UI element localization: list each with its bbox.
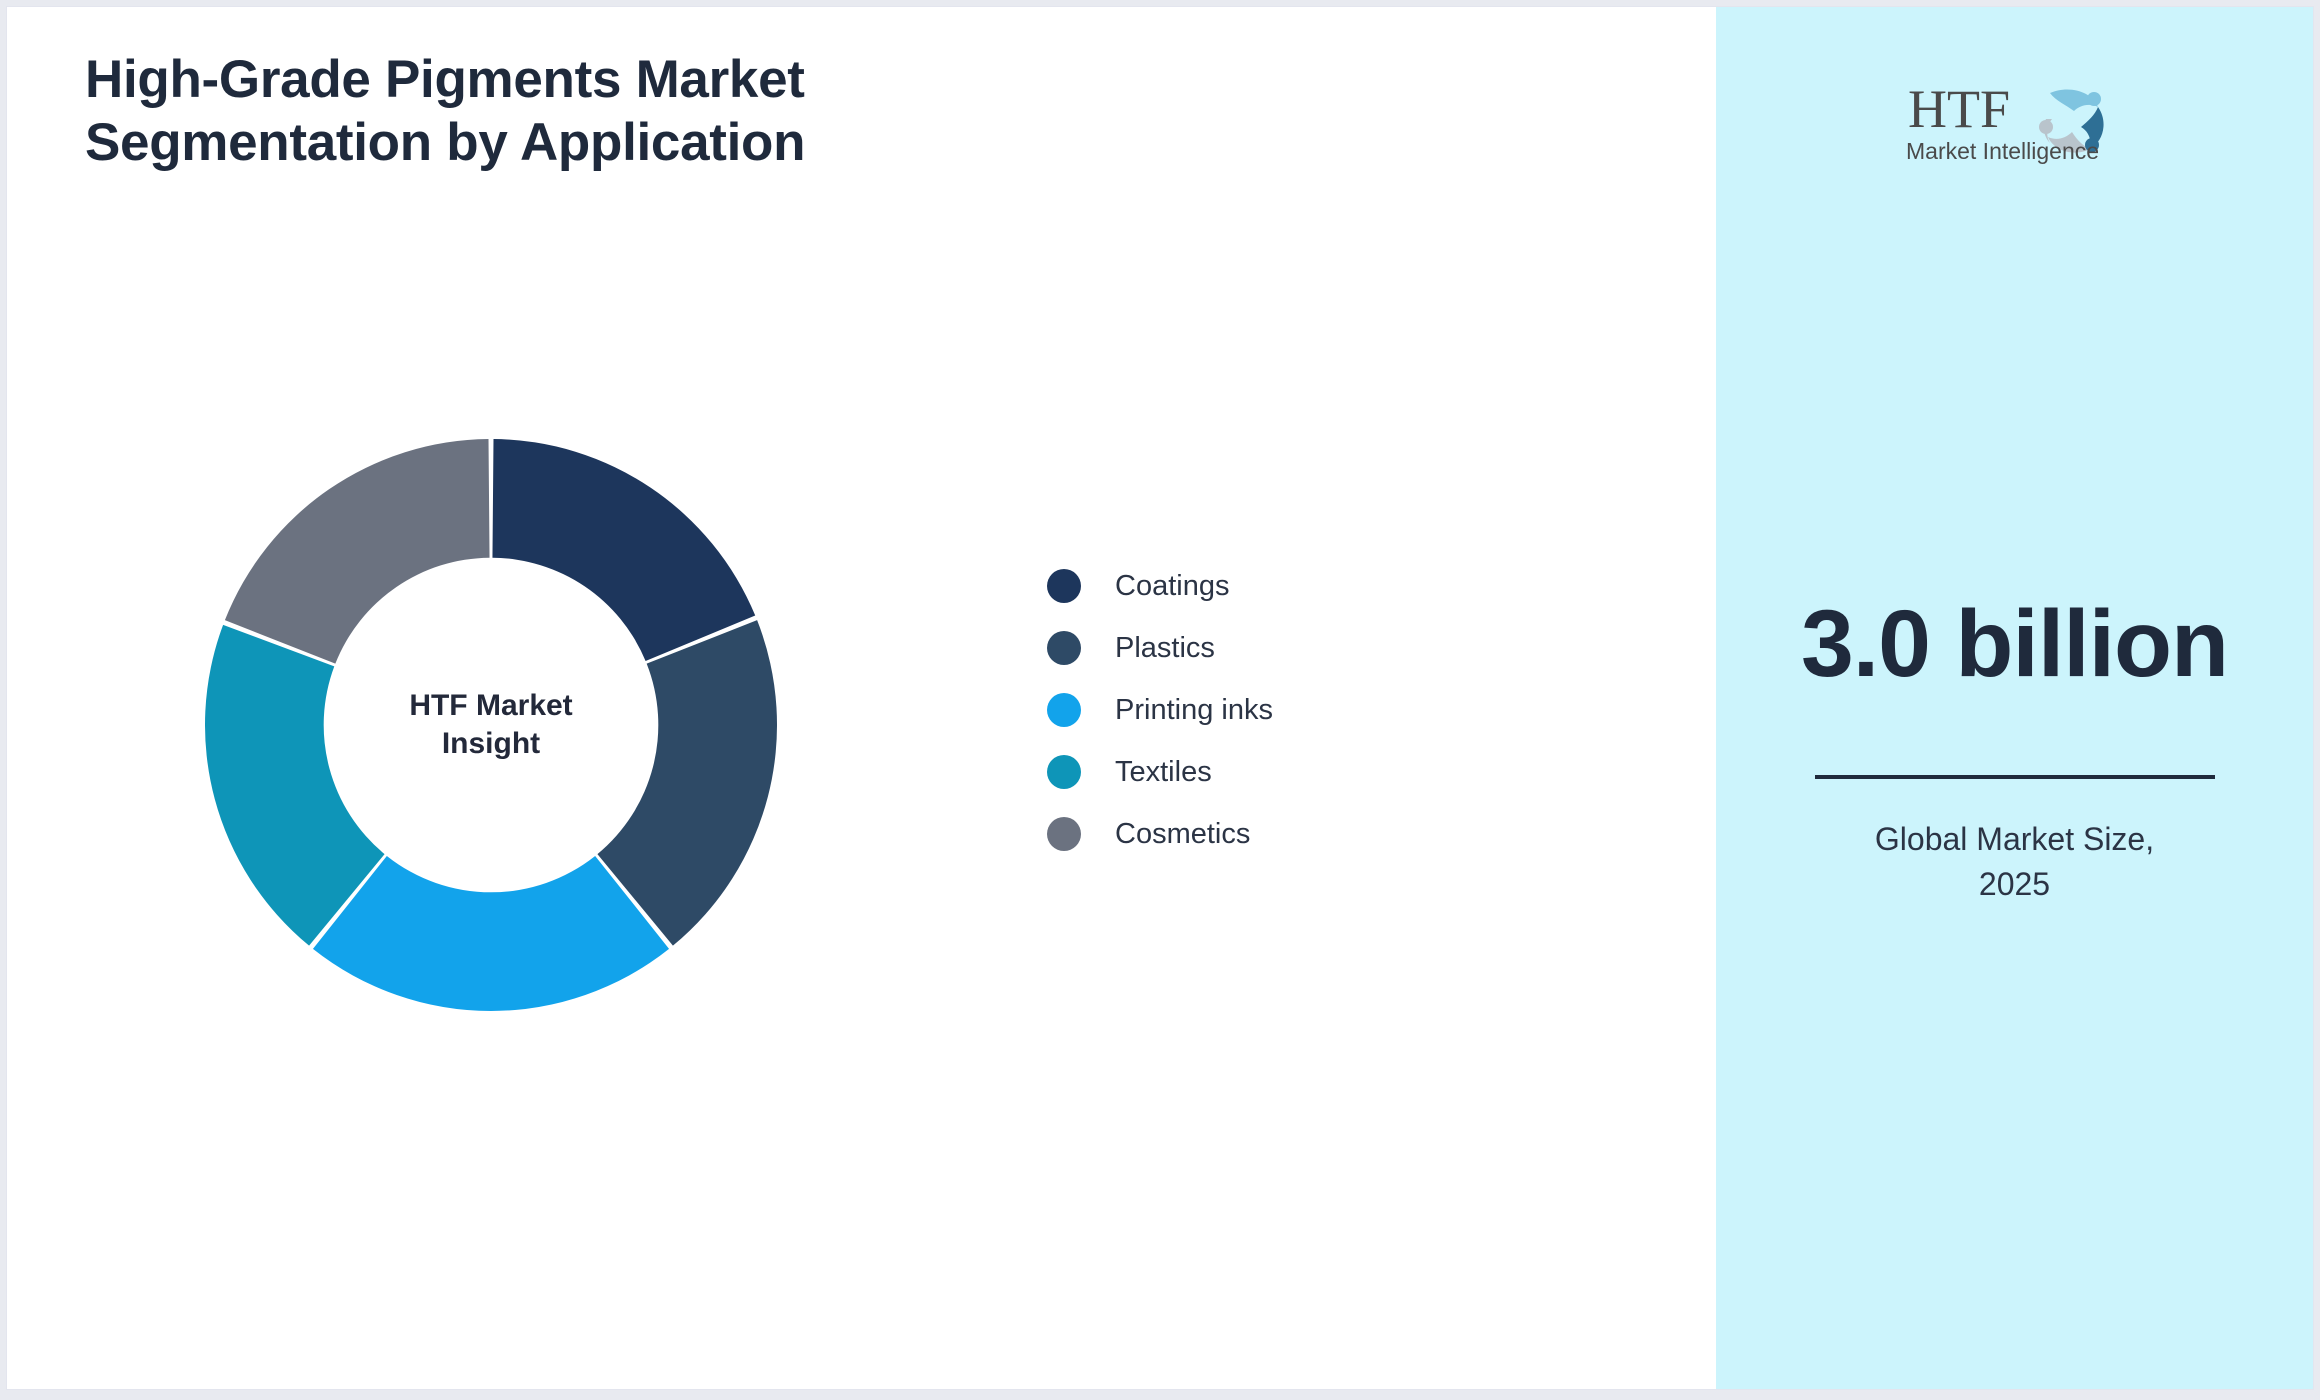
donut-chart: HTF Market Insight <box>205 439 777 1011</box>
legend-item-textiles[interactable]: Textiles <box>1047 741 1273 803</box>
logo-icon: HTF Market Intelligence <box>1900 75 2130 167</box>
donut-slice-cosmetics[interactable] <box>225 439 490 664</box>
donut-chart-svg <box>205 439 777 1011</box>
legend-item-plastics[interactable]: Plastics <box>1047 617 1273 679</box>
legend-swatch-icon <box>1047 755 1081 789</box>
donut-slice-coatings[interactable] <box>492 439 755 661</box>
page-title-line-2: Segmentation by Application <box>85 112 1085 175</box>
legend-item-coatings[interactable]: Coatings <box>1047 555 1273 617</box>
legend-item-label: Textiles <box>1115 756 1212 789</box>
legend-item-label: Plastics <box>1115 632 1215 665</box>
donut-slice-group <box>205 439 777 1011</box>
legend-item-label: Cosmetics <box>1115 818 1250 851</box>
htf-market-intelligence-logo: HTF Market Intelligence <box>1900 75 2130 167</box>
chart-panel: High-Grade Pigments Market Segmentation … <box>7 7 1716 1389</box>
infographic-card: High-Grade Pigments Market Segmentation … <box>6 6 2314 1390</box>
market-size-caption: Global Market Size, 2025 <box>1716 817 2313 908</box>
chart-legend: CoatingsPlasticsPrinting inksTextilesCos… <box>1047 555 1273 865</box>
legend-swatch-icon <box>1047 631 1081 665</box>
market-size-caption-line-2: 2025 <box>1716 862 2313 907</box>
legend-swatch-icon <box>1047 693 1081 727</box>
legend-item-printing-inks[interactable]: Printing inks <box>1047 679 1273 741</box>
legend-swatch-icon <box>1047 817 1081 851</box>
legend-item-label: Printing inks <box>1115 694 1273 727</box>
divider-rule <box>1815 775 2215 779</box>
page-title-line-1: High-Grade Pigments Market <box>85 49 1085 112</box>
legend-item-label: Coatings <box>1115 570 1229 603</box>
donut-slice-printing-inks[interactable] <box>313 856 669 1011</box>
logo-tagline: Market Intelligence <box>1906 138 2099 164</box>
page-title: High-Grade Pigments Market Segmentation … <box>85 49 1085 174</box>
logo-wordmark: HTF <box>1908 79 2010 139</box>
market-size-caption-line-1: Global Market Size, <box>1716 817 2313 862</box>
legend-item-cosmetics[interactable]: Cosmetics <box>1047 803 1273 865</box>
market-size-value: 3.0 billion <box>1716 597 2313 692</box>
stat-panel: HTF Market Intelligence 3.0 billion Glob… <box>1716 7 2313 1389</box>
legend-swatch-icon <box>1047 569 1081 603</box>
